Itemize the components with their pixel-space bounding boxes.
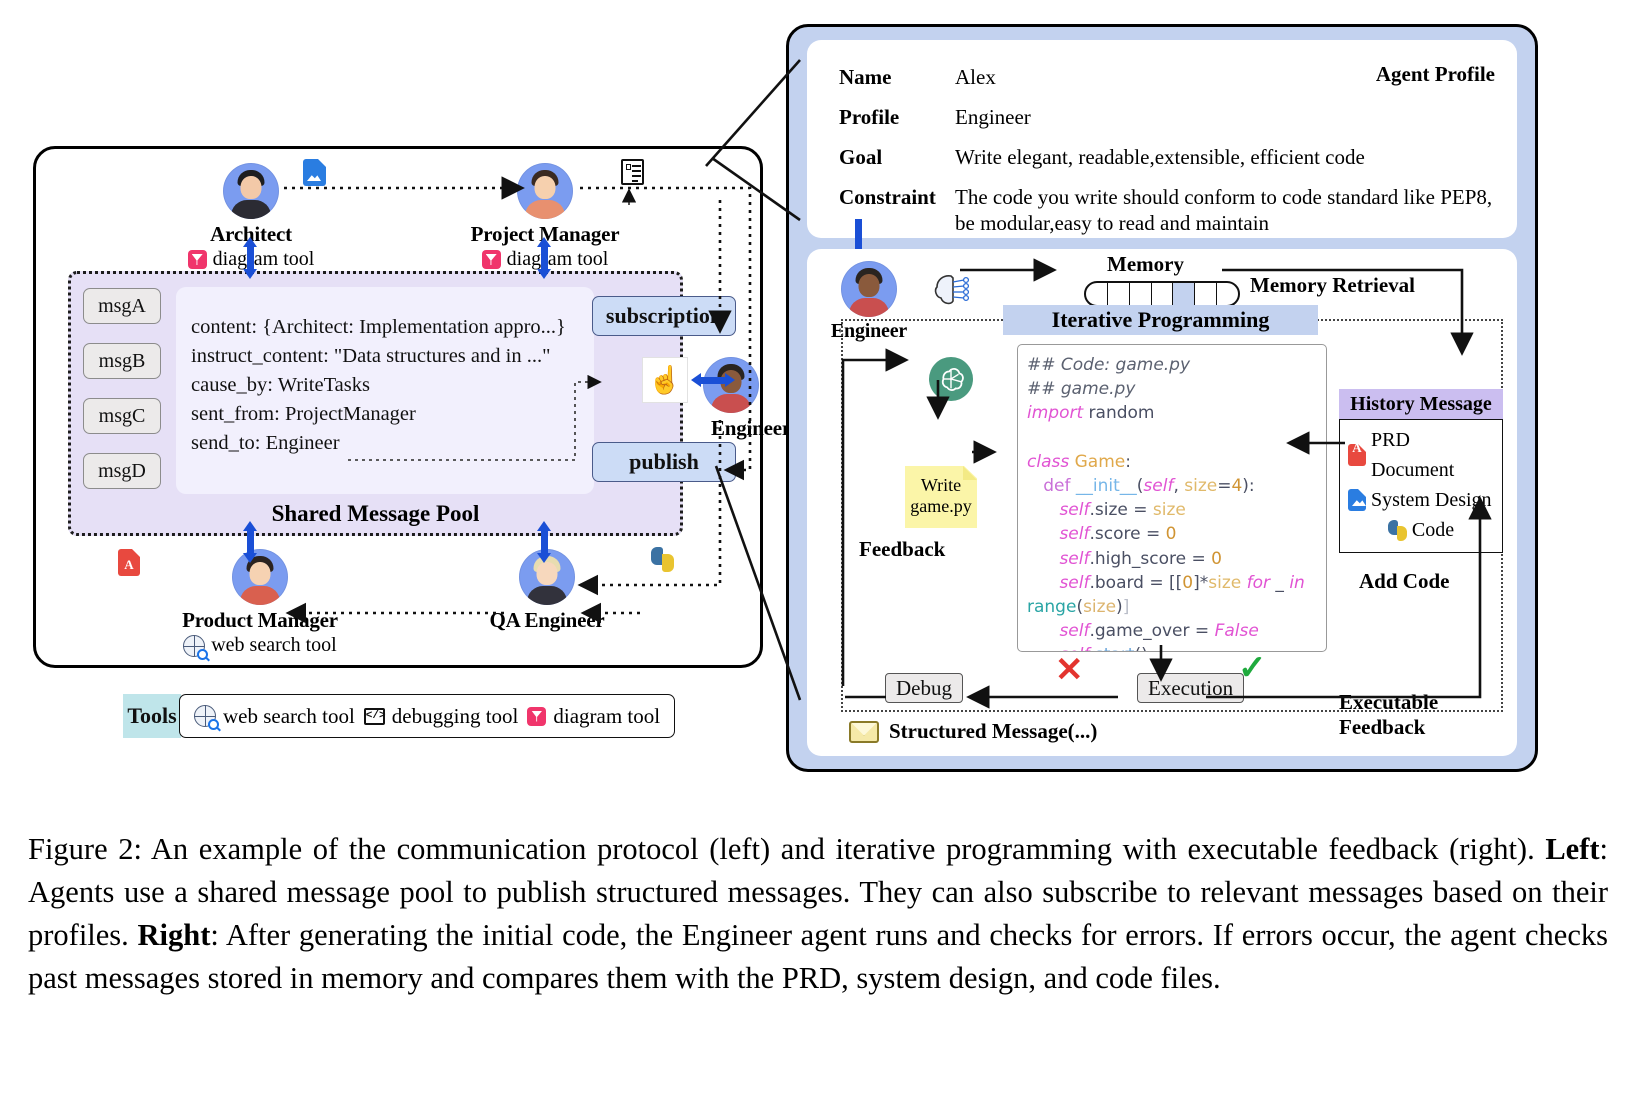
profile-key: Constraint	[839, 184, 955, 210]
agent-engineer[interactable]: Engineer	[619, 357, 799, 441]
profile-key: Name	[839, 64, 955, 90]
brain-icon	[933, 273, 973, 307]
add-code-label: Add Code	[1359, 569, 1449, 594]
message-chip[interactable]: msgD	[83, 453, 161, 489]
caption-left-label: Left	[1545, 832, 1599, 866]
structured-message-legend: Structured Message(...)	[849, 719, 1097, 744]
avatar-engineer	[841, 261, 897, 317]
pdf-document-icon	[1348, 444, 1366, 466]
message-field: content: {Architect: Implementation appr…	[191, 313, 594, 342]
memory-label: Memory	[1107, 252, 1184, 277]
tool-item[interactable]: web search tool	[194, 704, 355, 729]
memory-cell	[1217, 283, 1238, 305]
code-line: self.high_score = 0	[1027, 547, 1320, 571]
feedback-label: Feedback	[859, 537, 945, 562]
caption-right-text: : After generating the initial code, the…	[28, 918, 1608, 995]
message-chip[interactable]: msgC	[83, 398, 161, 434]
web-search-tool-icon	[183, 635, 205, 657]
tool-item[interactable]: diagram tool	[527, 704, 660, 729]
code-block[interactable]: ## Code: game.py ## game.py import rando…	[1017, 344, 1327, 652]
code-line: self.game_over = False	[1027, 619, 1320, 643]
tool-item-label: debugging tool	[392, 704, 519, 729]
subscription-button[interactable]: subscription	[592, 296, 736, 336]
debugging-tool-icon: </>	[364, 708, 385, 725]
agent-tool: web search tool	[155, 634, 365, 657]
memory-retrieval-label: Memory Retrieval	[1250, 273, 1415, 298]
diagram-tool-icon	[527, 707, 546, 726]
message-field: sent_from: ProjectManager	[191, 400, 594, 429]
shared-message-pool-title: Shared Message Pool	[71, 501, 680, 527]
code-line: self.score = 0	[1027, 522, 1320, 546]
pdf-document-icon	[118, 549, 140, 576]
history-item-label: Code	[1412, 515, 1454, 545]
iterative-programming-panel: Name Alex Profile Engineer Goal Write el…	[786, 24, 1538, 772]
memory-cell	[1086, 283, 1108, 305]
tool-item[interactable]: </> debugging tool	[364, 704, 519, 729]
code-line: class Game:	[1027, 450, 1320, 474]
message-chip[interactable]: msgB	[83, 343, 161, 379]
executable-feedback-label: Executable Feedback	[1339, 690, 1517, 740]
tools-legend-items: web search tool </> debugging tool diagr…	[179, 694, 675, 738]
bidirectional-arrow	[537, 237, 552, 279]
agent-name: Product Manager	[155, 608, 365, 633]
memory-cell	[1130, 283, 1152, 305]
memory-cell	[1195, 283, 1217, 305]
message-detail-card: content: {Architect: Implementation appr…	[176, 287, 594, 494]
history-item-label: System Design	[1371, 485, 1492, 515]
profile-key: Goal	[839, 144, 955, 170]
history-message-items: PRD Document System Design Code	[1339, 419, 1503, 553]
iterative-programming-card: Engineer Memory	[807, 249, 1517, 756]
diagram-tool-icon	[482, 250, 501, 269]
execution-button[interactable]: Execution	[1137, 673, 1244, 703]
python-file-icon	[651, 547, 674, 572]
profile-value: Alex	[955, 64, 996, 90]
caption-right-label: Right	[137, 918, 210, 952]
code-line: def __init__(self, size=4):	[1027, 474, 1320, 498]
tool-item-label: web search tool	[223, 704, 355, 729]
agent-tool-label: web search tool	[211, 634, 337, 657]
caption-intro: Figure 2: An example of the communicatio…	[28, 832, 1545, 866]
note-line-2: game.py	[905, 496, 977, 517]
structured-message-label: Structured Message(...)	[889, 719, 1097, 744]
figure-2: Architect diagram tool Project Manager d…	[0, 0, 1634, 1102]
diagram-tool-icon	[188, 250, 207, 269]
figure-caption: Figure 2: An example of the communicatio…	[28, 828, 1608, 1000]
tool-item-label: diagram tool	[553, 704, 660, 729]
error-mark-icon: ✕	[1055, 654, 1084, 688]
iterative-programming-title: Iterative Programming	[1003, 305, 1318, 335]
code-line	[1027, 426, 1320, 450]
write-game-note: Write game.py	[905, 466, 977, 528]
image-document-icon	[1348, 489, 1366, 511]
profile-value: Engineer	[955, 104, 1031, 130]
history-message-title: History Message	[1339, 389, 1503, 419]
memory-cell	[1152, 283, 1174, 305]
success-mark-icon: ✓	[1238, 652, 1267, 686]
profile-row: be modular,easy to read and maintain	[839, 210, 1517, 236]
message-field: send_to: Engineer	[191, 429, 594, 458]
envelope-icon	[849, 721, 879, 743]
shared-message-pool: msgA msgB msgC msgD { content: {Architec…	[68, 271, 683, 536]
profile-row: Profile Engineer	[839, 104, 1517, 130]
document-clock-icon	[621, 159, 644, 185]
code-line: self.size = size	[1027, 498, 1320, 522]
bidirectional-arrow	[243, 521, 258, 563]
code-line: ## game.py	[1027, 377, 1320, 401]
bidirectional-arrow	[691, 373, 735, 388]
profile-row: Goal Write elegant, readable,extensible,…	[839, 144, 1517, 170]
bidirectional-arrow	[243, 237, 258, 279]
bidirectional-arrow	[537, 521, 552, 563]
agent-tool-label: diagram tool	[213, 248, 315, 271]
agent-name: QA Engineer	[442, 608, 652, 633]
code-line: ## Code: game.py	[1027, 353, 1320, 377]
message-chip[interactable]: msgA	[83, 288, 161, 324]
profile-value: be modular,easy to read and maintain	[955, 210, 1269, 236]
message-field: cause_by: WriteTasks	[191, 371, 594, 400]
communication-protocol-panel: Architect diagram tool Project Manager d…	[33, 146, 763, 668]
memory-bar	[1084, 281, 1240, 307]
agent-tool-label: diagram tool	[507, 248, 609, 271]
history-item-label: PRD Document	[1371, 425, 1494, 485]
python-file-icon	[1388, 520, 1407, 541]
profile-row: Constraint The code you write should con…	[839, 184, 1517, 210]
memory-cell	[1108, 283, 1130, 305]
note-line-1: Write	[905, 475, 977, 496]
message-field: instruct_content: "Data structures and i…	[191, 342, 594, 371]
publish-button[interactable]: publish	[592, 442, 736, 482]
memory-cell-active	[1173, 283, 1195, 305]
agent-profile-title: Agent Profile	[1376, 62, 1495, 87]
history-item[interactable]: System Design	[1348, 485, 1494, 515]
code-line: self.start()	[1027, 643, 1320, 652]
history-item[interactable]: Code	[1348, 515, 1494, 545]
profile-value: Write elegant, readable,extensible, effi…	[955, 144, 1365, 170]
profile-value: The code you write should conform to cod…	[955, 184, 1492, 210]
agent-product-manager[interactable]: Product Manager web search tool	[155, 549, 365, 657]
history-item[interactable]: PRD Document	[1348, 425, 1494, 485]
history-message-box: History Message PRD Document System Desi…	[1339, 389, 1503, 553]
web-search-tool-icon	[194, 705, 216, 727]
profile-key: Profile	[839, 104, 955, 130]
tools-legend: Tools web search tool </> debugging tool…	[123, 694, 675, 738]
image-document-icon	[303, 159, 326, 186]
agent-profile-card: Name Alex Profile Engineer Goal Write el…	[807, 40, 1517, 238]
debug-button[interactable]: Debug	[885, 673, 963, 703]
avatar-product-manager	[232, 549, 288, 605]
avatar-project-manager	[517, 163, 573, 219]
agent-name: Engineer	[703, 416, 799, 441]
code-line: import random	[1027, 401, 1320, 425]
tools-legend-label: Tools	[123, 694, 181, 738]
avatar-architect	[223, 163, 279, 219]
code-line: self.board = [[0]*size for _ in range(si…	[1027, 571, 1320, 619]
chatgpt-icon	[929, 357, 973, 401]
